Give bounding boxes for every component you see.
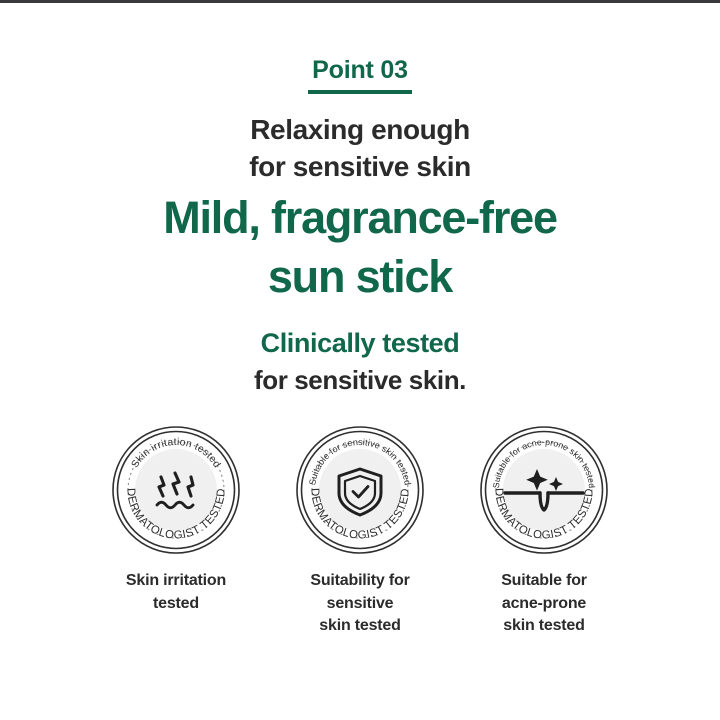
point-underline (308, 90, 412, 94)
clinical-green-line: Clinically tested (0, 326, 720, 361)
clinical-block: Clinically tested for sensitive skin. (0, 326, 720, 398)
seal-sensitive-skin: Suitable for sensitive skin tested DERMA… (295, 425, 425, 555)
headline-mainline-1: Mild, fragrance-free (0, 191, 720, 244)
page-top-edge (0, 0, 720, 3)
caption-line: tested (101, 593, 251, 616)
badge-sensitive-skin: Suitable for sensitive skin tested DERMA… (290, 425, 430, 638)
headline-subline-1: Relaxing enough (0, 112, 720, 149)
badge-caption-sensitive-skin: Suitability for sensitive skin tested (285, 570, 435, 638)
headline-block: Relaxing enough for sensitive skin Mild,… (0, 112, 720, 304)
badge-skin-irritation: Skin irritation tested DERMATOLOGIST TES… (106, 425, 246, 615)
caption-line: Suitable for (469, 570, 619, 593)
certification-badges: Skin irritation tested DERMATOLOGIST TES… (0, 425, 720, 638)
badge-acne-prone-skin: Suitable for acne-prone skin tested DERM… (474, 425, 614, 638)
headline-subline-2: for sensitive skin (0, 149, 720, 186)
caption-line: acne-prone (469, 593, 619, 616)
caption-line: Skin irritation (101, 570, 251, 593)
headline-mainline-2: sun stick (0, 250, 720, 303)
seal-skin-irritation: Skin irritation tested DERMATOLOGIST TES… (111, 425, 241, 555)
badge-caption-skin-irritation: Skin irritation tested (101, 570, 251, 615)
badge-caption-acne-prone-skin: Suitable for acne-prone skin tested (469, 570, 619, 638)
caption-line: Suitability for (285, 570, 435, 593)
seal-acne-prone-skin: Suitable for acne-prone skin tested DERM… (479, 425, 609, 555)
clinical-dark-line: for sensitive skin. (0, 364, 720, 398)
point-badge: Point 03 (0, 57, 720, 94)
caption-line: skin tested (285, 615, 435, 638)
caption-line: sensitive (285, 593, 435, 616)
point-label: Point 03 (310, 57, 410, 85)
promo-page: Point 03 Relaxing enough for sensitive s… (0, 0, 720, 720)
caption-line: skin tested (469, 615, 619, 638)
